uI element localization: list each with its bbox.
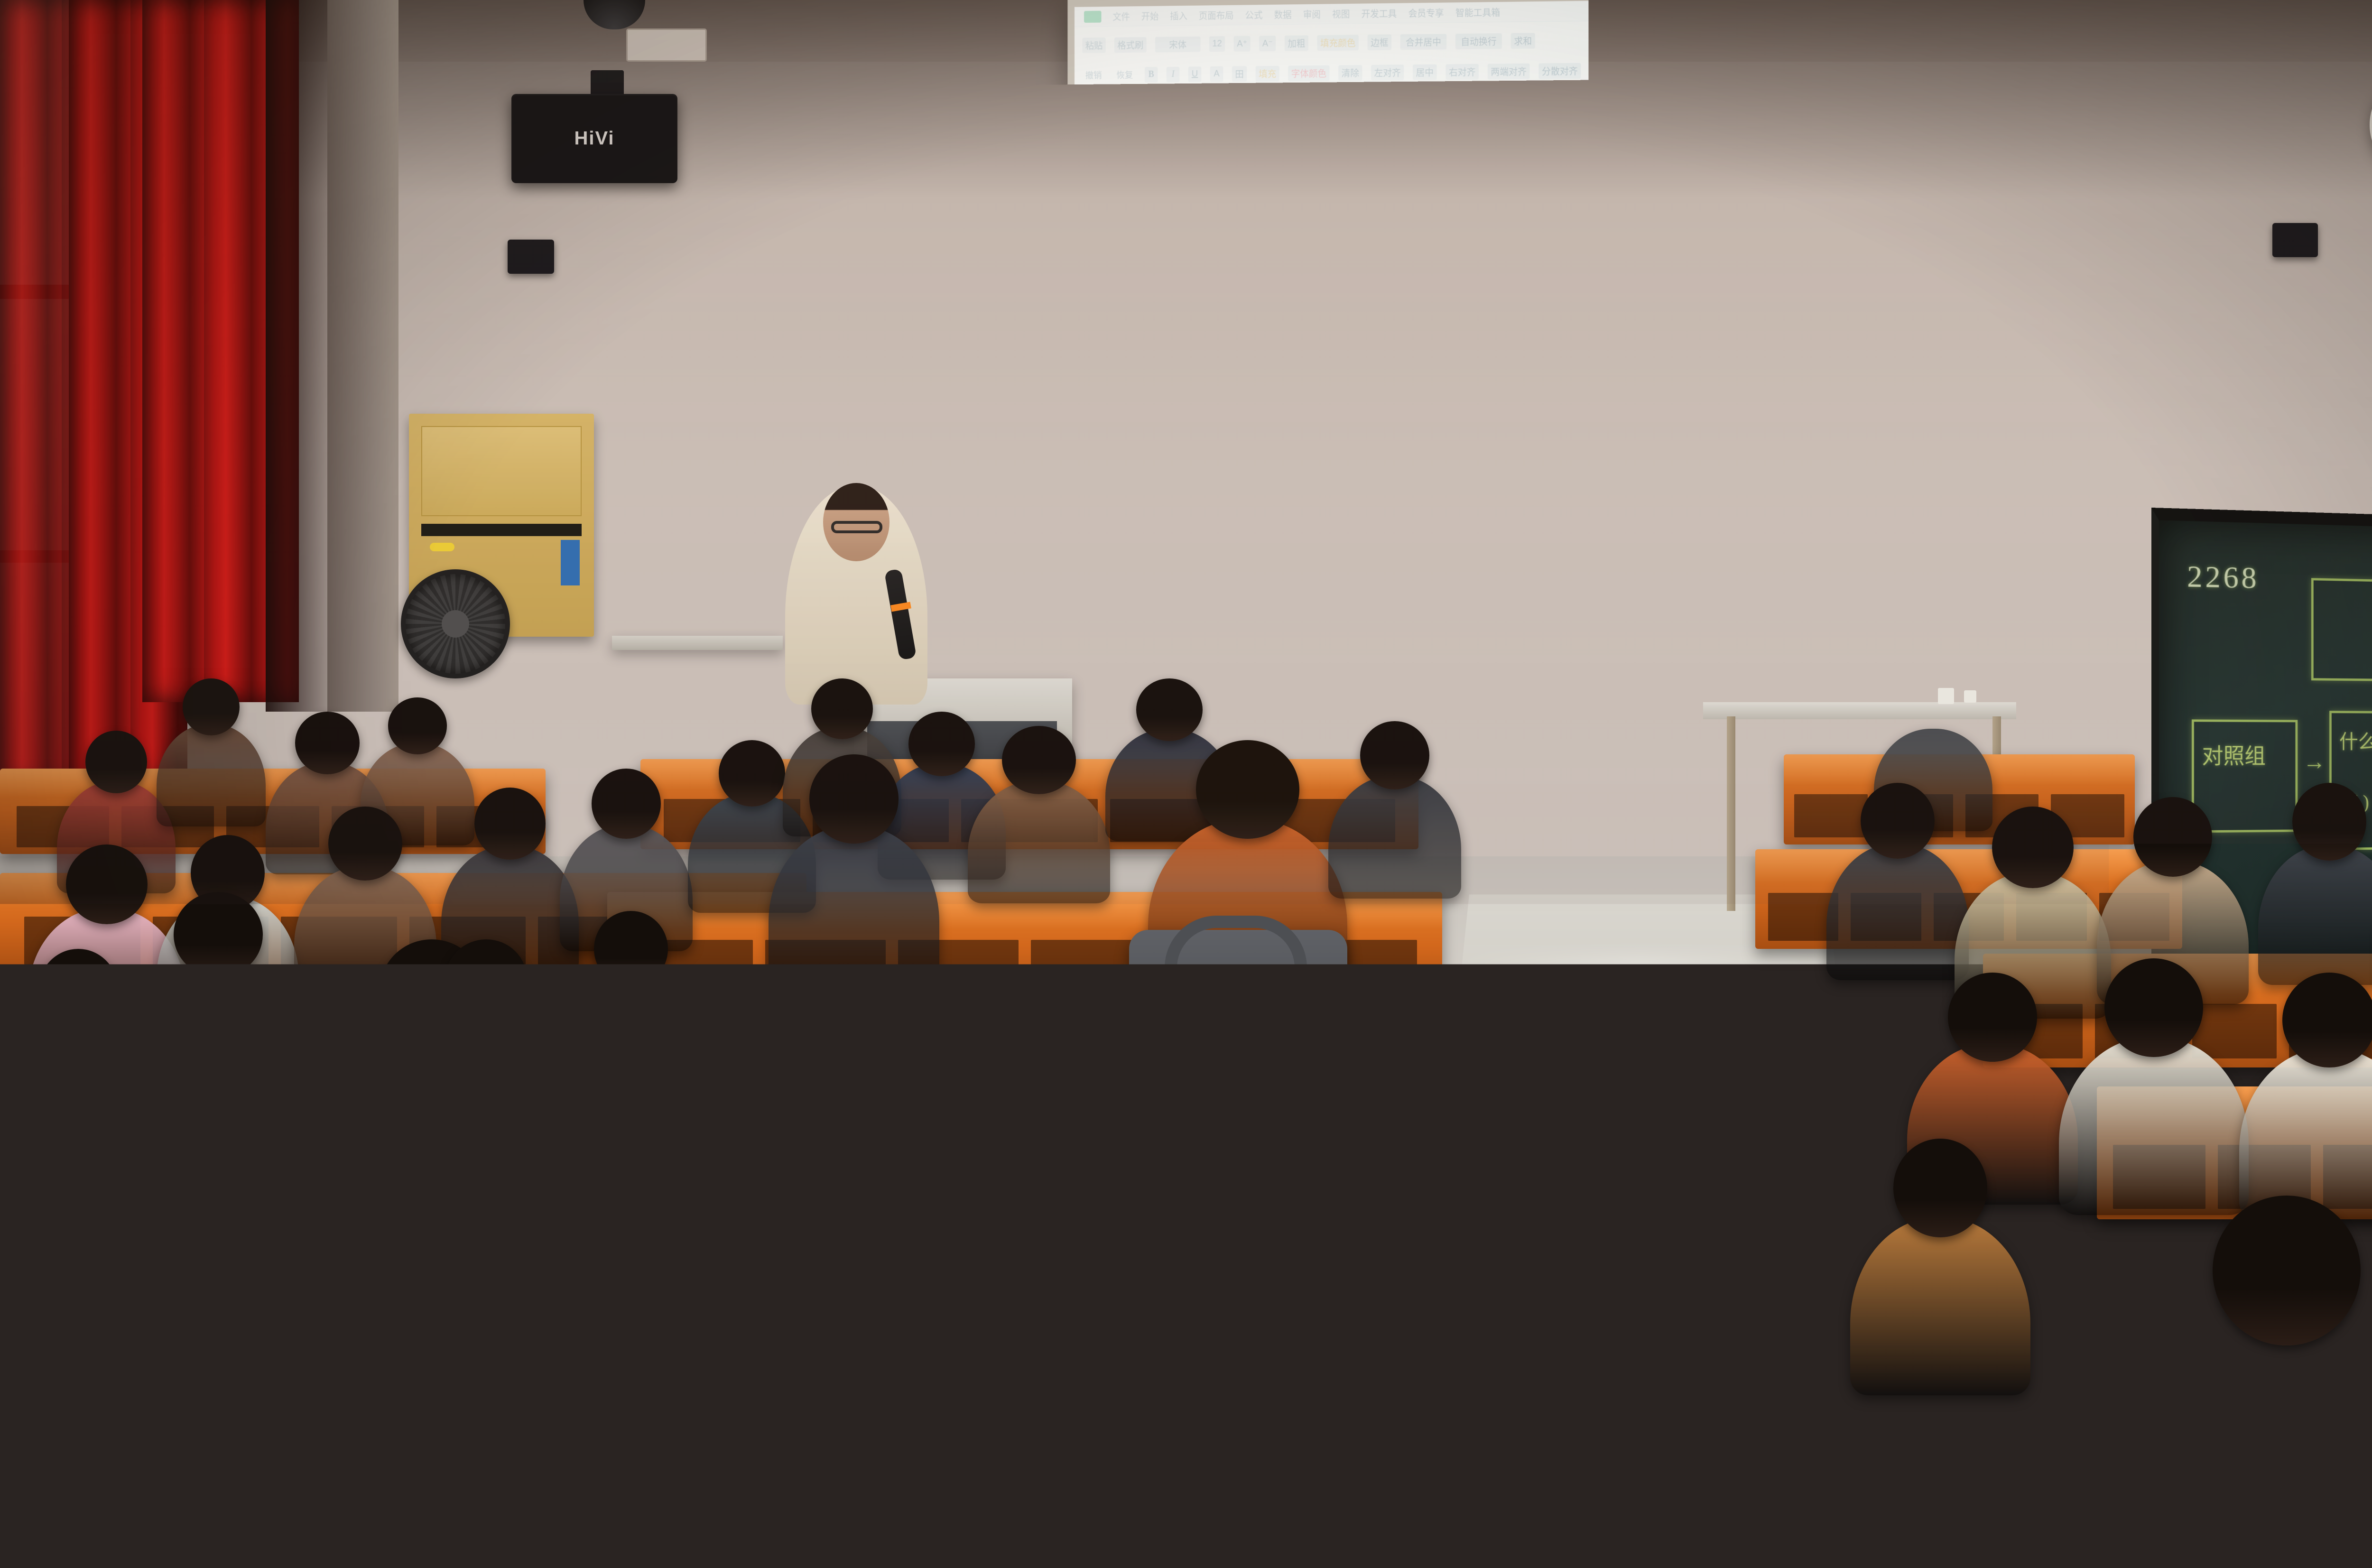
cell-empty-f[interactable] bbox=[2093, 204, 2209, 227]
cell-empty-d[interactable] bbox=[1864, 430, 1978, 453]
cell-empty-c[interactable] bbox=[1751, 362, 1864, 384]
sheet-tab-3[interactable]: Sheet3 bbox=[1201, 517, 1244, 532]
audience-head bbox=[260, 1091, 433, 1262]
cell-content[interactable]: 艺教、学前、舞蹈教研室到达中心小学开展支教课堂 bbox=[1185, 273, 1751, 295]
table-row[interactable]: 9部分师生前往果园调研 bbox=[1075, 317, 2209, 341]
search-icon: ⚲ bbox=[1106, 567, 1113, 579]
cell-format-button[interactable]: 格式 bbox=[1804, 60, 1828, 76]
cell-empty-f[interactable] bbox=[2093, 499, 2209, 521]
wps-logo-icon bbox=[1084, 10, 1101, 22]
name-box[interactable]: B13 bbox=[1084, 98, 1167, 117]
status-summary: 平均值:0 计数:1 求和:0 bbox=[1084, 539, 1171, 553]
cell-empty-d[interactable] bbox=[1864, 273, 1978, 295]
table-row[interactable]: 39:30达到曲樟乡政府 bbox=[1075, 181, 2209, 208]
view-mode-label[interactable]: 普通视图 bbox=[2124, 549, 2162, 564]
cell-empty-e[interactable] bbox=[1978, 385, 2093, 408]
menu-item-1[interactable]: 开始 bbox=[1141, 9, 1159, 22]
cell-time[interactable] bbox=[1099, 251, 1185, 273]
cell-content[interactable]: 北艺、康养、曲樟乡政府座谈 bbox=[1185, 206, 1751, 229]
audience-head bbox=[2292, 783, 2366, 861]
cell-empty-c[interactable] bbox=[1751, 429, 1864, 452]
ribbon-row-2[interactable]: 撤销 恢复 B I U A 田 填充 字体颜色 清除 左对齐 居中 右对齐 两端… bbox=[1082, 51, 2200, 88]
audience-head bbox=[1902, 683, 1964, 740]
cell-content[interactable]: 午餐 bbox=[1185, 339, 1751, 362]
table-row[interactable]: 7艺教、学前、舞蹈教研室到达中心小学开展支教课堂 bbox=[1075, 272, 2209, 295]
table-row[interactable]: 510:00挂牌仪式 bbox=[1075, 227, 2209, 252]
row-header[interactable]: 17 bbox=[1075, 491, 1099, 512]
cell-content[interactable]: 返回 bbox=[1185, 470, 1751, 496]
cell-empty-d[interactable] bbox=[1864, 227, 1978, 250]
menu-item-0[interactable]: 文件 bbox=[1112, 9, 1130, 23]
projection-screen: 文件 开始 插入 页面布局 公式 数据 审阅 视图 开发工具 会员专享 智能工具… bbox=[1067, 0, 2216, 610]
format-painter-button[interactable]: 格式刷 bbox=[1114, 37, 1147, 53]
row-header[interactable]: 14 bbox=[1075, 426, 1099, 447]
cell-empty-e[interactable] bbox=[1978, 408, 2093, 431]
filter-button[interactable]: 筛选 bbox=[1702, 61, 1727, 77]
audience-head bbox=[719, 740, 785, 807]
cell-empty-c[interactable] bbox=[1751, 452, 1864, 474]
cell-empty-d[interactable] bbox=[1864, 160, 1978, 183]
cell-empty-e[interactable] bbox=[1978, 340, 2093, 362]
cortana-button[interactable]: 课件 bbox=[1371, 562, 1446, 590]
cell-time[interactable] bbox=[1099, 273, 1185, 295]
cabinet-yellow-label bbox=[430, 543, 454, 551]
cell-empty-f[interactable] bbox=[2093, 454, 2209, 476]
row-header[interactable]: 9 bbox=[1075, 317, 1099, 338]
spreadsheet-app: 文件 开始 插入 页面布局 公式 数据 审阅 视图 开发工具 会员专享 智能工具… bbox=[1075, 0, 2209, 602]
spreadsheet-grid[interactable]: ◥ A B C D E F 1时间工作内容27:40出发39:30达到曲樟乡政府… bbox=[1075, 114, 2209, 521]
cell-empty-f[interactable] bbox=[2093, 181, 2209, 204]
italic-button[interactable]: I bbox=[1167, 66, 1180, 82]
column-header-f[interactable]: F bbox=[2093, 114, 2209, 136]
cell-empty-e[interactable] bbox=[1978, 272, 2093, 295]
bold-button[interactable]: B bbox=[1145, 67, 1158, 83]
cell-content[interactable]: 文艺演出交流（横幅） bbox=[1185, 448, 1751, 473]
audience-head bbox=[1948, 973, 2037, 1062]
bold-toggle[interactable]: 加粗 bbox=[1285, 35, 1308, 51]
menu-item-2[interactable]: 插入 bbox=[1170, 9, 1187, 22]
cell-empty-e[interactable] bbox=[1978, 204, 2093, 227]
cell-time[interactable]: 10:00 bbox=[1099, 230, 1185, 251]
audience-head bbox=[2213, 1196, 2361, 1345]
floor-fan bbox=[401, 569, 510, 678]
add-sheet-button[interactable]: + bbox=[1248, 518, 1268, 532]
audience-head bbox=[174, 892, 262, 977]
cell-content[interactable]: 艺之梦公益助教项目启动仪式（横幅） bbox=[1185, 295, 1751, 317]
sort-button[interactable]: 排序 bbox=[1736, 61, 1760, 77]
cell-empty-c[interactable] bbox=[1751, 407, 1864, 429]
cell-empty-f[interactable] bbox=[2093, 250, 2209, 272]
wrap-text-button[interactable]: 自动换行 bbox=[1455, 33, 1502, 49]
lecture-hall-scene: HiVi HiVi 121234567891011 安全出口 2268 大纲？ … bbox=[0, 0, 2372, 1568]
cup-2 bbox=[1964, 690, 1976, 703]
menu-item-10[interactable]: 智能工具箱 bbox=[1455, 5, 1500, 19]
cell-empty-f[interactable] bbox=[2093, 476, 2209, 500]
app-icon-1 bbox=[1465, 568, 1477, 584]
audience-head bbox=[183, 678, 240, 735]
wall-pillar bbox=[327, 0, 398, 712]
fx-icon[interactable]: fx bbox=[1198, 101, 1205, 113]
row-header[interactable]: 1 bbox=[1075, 143, 1099, 164]
column-header-d[interactable]: D bbox=[1864, 116, 1978, 138]
column-header-c[interactable]: C bbox=[1751, 116, 1864, 138]
search-icon[interactable]: ⚲ bbox=[1183, 101, 1190, 113]
audience-head bbox=[1893, 1139, 1987, 1237]
table-style-button[interactable]: 表格样式 bbox=[1646, 62, 1693, 78]
table-row[interactable]: 1012:00午餐 bbox=[1075, 339, 2209, 363]
cell-empty-c[interactable] bbox=[1751, 317, 1864, 340]
cell-content[interactable]: 领导发言 bbox=[1185, 404, 1751, 428]
audience-head bbox=[885, 987, 1136, 1220]
zoom-level-label[interactable]: 100% bbox=[2174, 551, 2198, 562]
audience-head bbox=[474, 788, 546, 860]
menu-item-6[interactable]: 审阅 bbox=[1303, 7, 1321, 20]
audience-head bbox=[445, 939, 527, 1019]
start-button-icon[interactable]: ⊞ bbox=[1075, 556, 1100, 588]
front-table bbox=[612, 636, 783, 650]
row-header[interactable]: 12 bbox=[1075, 382, 1099, 404]
cell-empty-f[interactable] bbox=[2093, 295, 2209, 317]
cell-time[interactable]: 14:00 bbox=[1099, 382, 1185, 404]
row-header[interactable]: 11 bbox=[1075, 361, 1099, 382]
distribute-button[interactable]: 分散对齐 bbox=[1538, 63, 1581, 79]
wall-utility-box bbox=[626, 28, 707, 62]
cabinet-handle-strip bbox=[421, 524, 582, 536]
row-header[interactable]: 2 bbox=[1075, 165, 1099, 186]
cell-empty-f[interactable] bbox=[2093, 386, 2209, 408]
cell-time[interactable]: 12:30 bbox=[1099, 361, 1185, 382]
cell-empty-f[interactable] bbox=[2093, 431, 2209, 454]
cell-empty-e[interactable] bbox=[1978, 159, 2093, 182]
audience-head bbox=[1196, 740, 1299, 839]
cell-empty-d[interactable] bbox=[1864, 452, 1978, 475]
status-bar-right[interactable]: 普通视图 100% bbox=[2124, 549, 2198, 564]
taskbar-app-1-label: 人文学院下乡产业… bbox=[1482, 569, 1567, 584]
audience-head bbox=[592, 769, 661, 839]
row-header[interactable]: 7 bbox=[1075, 273, 1099, 295]
row-header[interactable]: 15 bbox=[1075, 447, 1099, 469]
table-row[interactable]: 810:00艺之梦公益助教项目启动仪式（横幅） bbox=[1075, 295, 2209, 318]
audience-head bbox=[388, 697, 447, 754]
redo-button[interactable]: 恢复 bbox=[1113, 67, 1136, 83]
align-center-button[interactable]: 居中 bbox=[1413, 64, 1437, 80]
cell-time[interactable]: 17:00 bbox=[1099, 469, 1185, 491]
cell-empty-e[interactable] bbox=[1978, 227, 2093, 250]
audience-head bbox=[66, 844, 148, 924]
audience-head bbox=[809, 754, 898, 844]
cell-empty-c[interactable] bbox=[1751, 295, 1864, 317]
cabinet-blue-label bbox=[561, 540, 580, 585]
row-header[interactable]: 13 bbox=[1075, 404, 1099, 425]
cell-empty-f[interactable] bbox=[2093, 408, 2209, 431]
find-button[interactable]: 查找 bbox=[1770, 61, 1794, 77]
cell-empty-c[interactable] bbox=[1751, 385, 1864, 407]
cell-empty-f[interactable] bbox=[2093, 158, 2209, 181]
cabinet-panel bbox=[421, 426, 582, 516]
cell-empty-c[interactable] bbox=[1751, 160, 1864, 183]
table-row[interactable]: 1112:30汉语言文学、哲学教研室前往曲樟乡库区、陈铭枢故居调研（横幅） bbox=[1075, 361, 2209, 386]
cell-empty-e[interactable] bbox=[1978, 475, 2093, 498]
cell-time[interactable] bbox=[1099, 491, 1185, 513]
cell-empty-c[interactable] bbox=[1751, 273, 1864, 295]
sheet-nav-first-icon[interactable]: ⇤ bbox=[1082, 518, 1090, 529]
paste-button[interactable]: 粘贴 bbox=[1082, 37, 1105, 53]
font-size-select[interactable]: 12 bbox=[1209, 36, 1225, 52]
cell-empty-c[interactable] bbox=[1751, 474, 1864, 497]
audience-head bbox=[1002, 726, 1076, 794]
align-right-button[interactable]: 右对齐 bbox=[1445, 64, 1479, 80]
cell-content[interactable]: 汉语言文学、哲学教研室前往曲樟乡库区、陈铭枢故居调研（横幅） bbox=[1185, 361, 1751, 384]
menu-item-7[interactable]: 视图 bbox=[1332, 7, 1350, 20]
taskbar-app-2[interactable]: 下乡助力基地帮扶… bbox=[1586, 565, 1707, 593]
cell-content[interactable]: 达到曲樟乡政府 bbox=[1185, 183, 1751, 207]
menu-item-8[interactable]: 开发工具 bbox=[1362, 6, 1397, 20]
sheet-tab-1[interactable]: Sheet1 bbox=[1105, 516, 1149, 531]
search-placeholder: 在这里输入你要搜索的内容 bbox=[1119, 566, 1234, 581]
row-header[interactable]: 6 bbox=[1075, 251, 1099, 273]
sheet-nav-prev-icon[interactable]: ◀ bbox=[1094, 518, 1102, 529]
cell-empty-d[interactable] bbox=[1864, 205, 1978, 227]
speaker-brand-label: HiVi bbox=[511, 128, 677, 149]
cell-time[interactable] bbox=[1099, 317, 1185, 338]
cell-time[interactable]: 12:00 bbox=[1099, 339, 1185, 360]
cell-empty-f[interactable] bbox=[2093, 341, 2209, 363]
cell-content[interactable]: 出发 bbox=[1185, 161, 1751, 186]
cell-empty-c[interactable] bbox=[1751, 183, 1864, 205]
borders-button[interactable]: 边框 bbox=[1368, 34, 1391, 50]
taskbar-app-1[interactable]: 人文学院下乡产业… bbox=[1456, 563, 1576, 591]
side-table-leg-left bbox=[1727, 716, 1735, 911]
underline-button[interactable]: U bbox=[1188, 66, 1202, 82]
cell-content[interactable]: 挂牌仪式 bbox=[1185, 228, 1751, 251]
sheet-tab-2[interactable]: Sheet2 bbox=[1154, 517, 1197, 532]
row-header[interactable]: 8 bbox=[1075, 295, 1099, 316]
audience-head bbox=[1360, 721, 1429, 789]
table-row[interactable]: 4北艺、康养、曲樟乡政府座谈 bbox=[1075, 204, 2209, 230]
cell-empty-c[interactable] bbox=[1751, 340, 1864, 362]
cell-content[interactable]: 工作内容 bbox=[1185, 139, 1751, 164]
cell-empty-d[interactable] bbox=[1864, 340, 1978, 362]
cell-empty-e[interactable] bbox=[1978, 295, 2093, 317]
menu-item-9[interactable]: 会员专享 bbox=[1408, 6, 1444, 19]
projected-image: 文件 开始 插入 页面布局 公式 数据 审阅 视图 开发工具 会员专享 智能工具… bbox=[1075, 0, 2209, 602]
border-grid-icon[interactable]: 田 bbox=[1232, 66, 1247, 82]
conditional-format-button[interactable]: 条件格式 bbox=[1590, 62, 1637, 78]
cell-empty-d[interactable] bbox=[1864, 362, 1978, 385]
cell-empty-c[interactable] bbox=[1751, 228, 1864, 250]
audience-head bbox=[37, 949, 119, 1036]
cell-content[interactable]: 布置舞台 bbox=[1185, 382, 1751, 406]
grid-rows[interactable]: 1时间工作内容27:40出发39:30达到曲樟乡政府4北艺、康养、曲樟乡政府座谈… bbox=[1075, 136, 2209, 521]
select-all-corner-icon[interactable]: ◥ bbox=[1075, 122, 1099, 142]
audience-head bbox=[2104, 958, 2203, 1057]
ir-receiver-left-icon bbox=[508, 240, 554, 274]
cell-empty-e[interactable] bbox=[1978, 363, 2093, 385]
cell-time[interactable]: 9:30 bbox=[1099, 186, 1185, 208]
cell-empty-e[interactable] bbox=[1978, 137, 2093, 159]
audience-head bbox=[811, 678, 873, 739]
audience-head bbox=[2231, 650, 2295, 709]
font-family-select[interactable]: 宋体 bbox=[1155, 36, 1201, 52]
row-header[interactable]: 10 bbox=[1075, 339, 1099, 360]
font-color-icon[interactable]: 字体颜色 bbox=[1288, 65, 1329, 81]
audience-head bbox=[908, 712, 975, 776]
audience-head bbox=[2282, 973, 2372, 1067]
cell-empty-c[interactable] bbox=[1751, 496, 1864, 519]
justify-button[interactable]: 两端对齐 bbox=[1488, 63, 1530, 79]
cell-empty-e[interactable] bbox=[1978, 430, 2093, 453]
cell-time[interactable] bbox=[1099, 208, 1185, 230]
audience-head bbox=[1136, 678, 1203, 741]
menu-item-4[interactable]: 公式 bbox=[1245, 8, 1263, 21]
merge-center-button[interactable]: 合并居中 bbox=[1400, 34, 1446, 50]
cell-empty-d[interactable] bbox=[1864, 317, 1978, 340]
cell-empty-e[interactable] bbox=[1978, 318, 2093, 340]
column-header-e[interactable]: E bbox=[1978, 115, 2093, 137]
cell-empty-d[interactable] bbox=[1864, 295, 1978, 317]
taskbar-search-input[interactable]: ⚲ 在这里输入你要搜索的内容 bbox=[1100, 559, 1371, 589]
cell-time[interactable] bbox=[1099, 404, 1185, 426]
cell-content[interactable]: 教学物资捐赠活动（横幅） bbox=[1185, 427, 1751, 451]
formula-divider bbox=[1174, 100, 1175, 114]
taskbar-app-2-label: 下乡助力基地帮扶… bbox=[1612, 571, 1697, 585]
spreadsheet-ribbon[interactable]: 粘贴 格式刷 宋体 12 A⁺ A⁻ 加粗 填充颜色 边框 合并居中 自动换行 … bbox=[1075, 14, 2209, 94]
fan-hub bbox=[442, 610, 469, 638]
table-row[interactable]: 6“以助力乡村振兴为主题的文案策划和宣传征文比赛”启动仪式（PPT） bbox=[1075, 250, 2209, 273]
undo-button[interactable]: 撤销 bbox=[1082, 67, 1104, 83]
cell-empty-f[interactable] bbox=[2093, 227, 2209, 249]
cell-time[interactable]: 10:00 bbox=[1099, 295, 1185, 316]
audience-head bbox=[1992, 807, 2074, 888]
cell-empty-c[interactable] bbox=[1751, 250, 1864, 272]
cell-empty-f[interactable] bbox=[2093, 363, 2209, 386]
column-header-a[interactable]: A bbox=[1099, 121, 1185, 142]
row-header[interactable]: 4 bbox=[1075, 208, 1099, 230]
fill-bucket-icon[interactable]: 填充 bbox=[1256, 65, 1279, 81]
cell-empty-e[interactable] bbox=[1978, 453, 2093, 476]
cell-empty-d[interactable] bbox=[1864, 497, 1978, 520]
audience-head bbox=[594, 911, 668, 987]
floor-reflection bbox=[1447, 956, 1836, 1502]
row-header[interactable]: 5 bbox=[1075, 230, 1099, 251]
cell-empty-f[interactable] bbox=[2093, 318, 2209, 340]
row-header[interactable]: 16 bbox=[1075, 469, 1099, 491]
fill-color-button[interactable]: 填充颜色 bbox=[1317, 35, 1359, 51]
font-effects-button[interactable]: A bbox=[1210, 66, 1223, 82]
bench-center-4 bbox=[0, 1158, 1466, 1300]
cell-empty-c[interactable] bbox=[1751, 138, 1864, 161]
cell-content[interactable]: “以助力乡村振兴为主题的文案策划和宣传征文比赛”启动仪式（PPT） bbox=[1185, 251, 1751, 273]
row-header[interactable]: 3 bbox=[1075, 186, 1099, 208]
cell-content[interactable]: 部分师生前往果园调研 bbox=[1185, 317, 1751, 339]
audience-head bbox=[2133, 797, 2212, 877]
autosum-button[interactable]: 求和 bbox=[1511, 33, 1535, 49]
cell-time[interactable] bbox=[1099, 447, 1185, 469]
cell-empty-d[interactable] bbox=[1864, 250, 1978, 272]
app-icon-2 bbox=[1595, 569, 1607, 585]
formula-input[interactable]: 领导发言 bbox=[1213, 99, 1251, 114]
cell-empty-d[interactable] bbox=[1864, 475, 1978, 498]
cell-empty-c[interactable] bbox=[1751, 205, 1864, 228]
audience-head bbox=[2102, 655, 2163, 712]
align-left-button[interactable]: 左对齐 bbox=[1371, 65, 1404, 81]
side-table bbox=[1703, 702, 2016, 719]
cell-empty-f[interactable] bbox=[2093, 136, 2209, 158]
audience-head bbox=[85, 731, 147, 793]
presenter-glasses-icon bbox=[831, 521, 882, 533]
audience-head bbox=[2001, 664, 2060, 719]
decrease-font-button[interactable]: A⁻ bbox=[1259, 36, 1276, 51]
menu-item-5[interactable]: 数据 bbox=[1274, 8, 1292, 21]
cell-empty-f[interactable] bbox=[2093, 272, 2209, 295]
cell-empty-e[interactable] bbox=[1978, 498, 2093, 521]
increase-font-button[interactable]: A⁺ bbox=[1234, 36, 1251, 51]
cell-empty-d[interactable] bbox=[1864, 137, 1978, 160]
cell-empty-e[interactable] bbox=[1978, 250, 2093, 272]
status-bar-left: 平均值:0 计数:1 求和:0 bbox=[1084, 539, 1171, 553]
ir-receiver-right-icon bbox=[2272, 223, 2318, 257]
column-header-b[interactable]: B bbox=[1185, 117, 1751, 142]
audience-head bbox=[1861, 783, 1935, 859]
cell-empty-d[interactable] bbox=[1864, 408, 1978, 430]
audience-head bbox=[328, 807, 402, 881]
cell-time[interactable]: 15:00—17:00 bbox=[1099, 426, 1185, 448]
menu-item-3[interactable]: 页面布局 bbox=[1199, 8, 1234, 22]
wall-speaker-left: HiVi bbox=[511, 94, 677, 183]
cell-empty-e[interactable] bbox=[1978, 182, 2093, 204]
clear-format-button[interactable]: 清除 bbox=[1338, 65, 1362, 81]
cell-time[interactable]: 7:40 bbox=[1099, 164, 1185, 186]
audience-head bbox=[295, 712, 359, 774]
cell-empty-d[interactable] bbox=[1864, 182, 1978, 204]
cell-empty-d[interactable] bbox=[1864, 385, 1978, 407]
cell-time[interactable]: 时间 bbox=[1099, 142, 1185, 164]
